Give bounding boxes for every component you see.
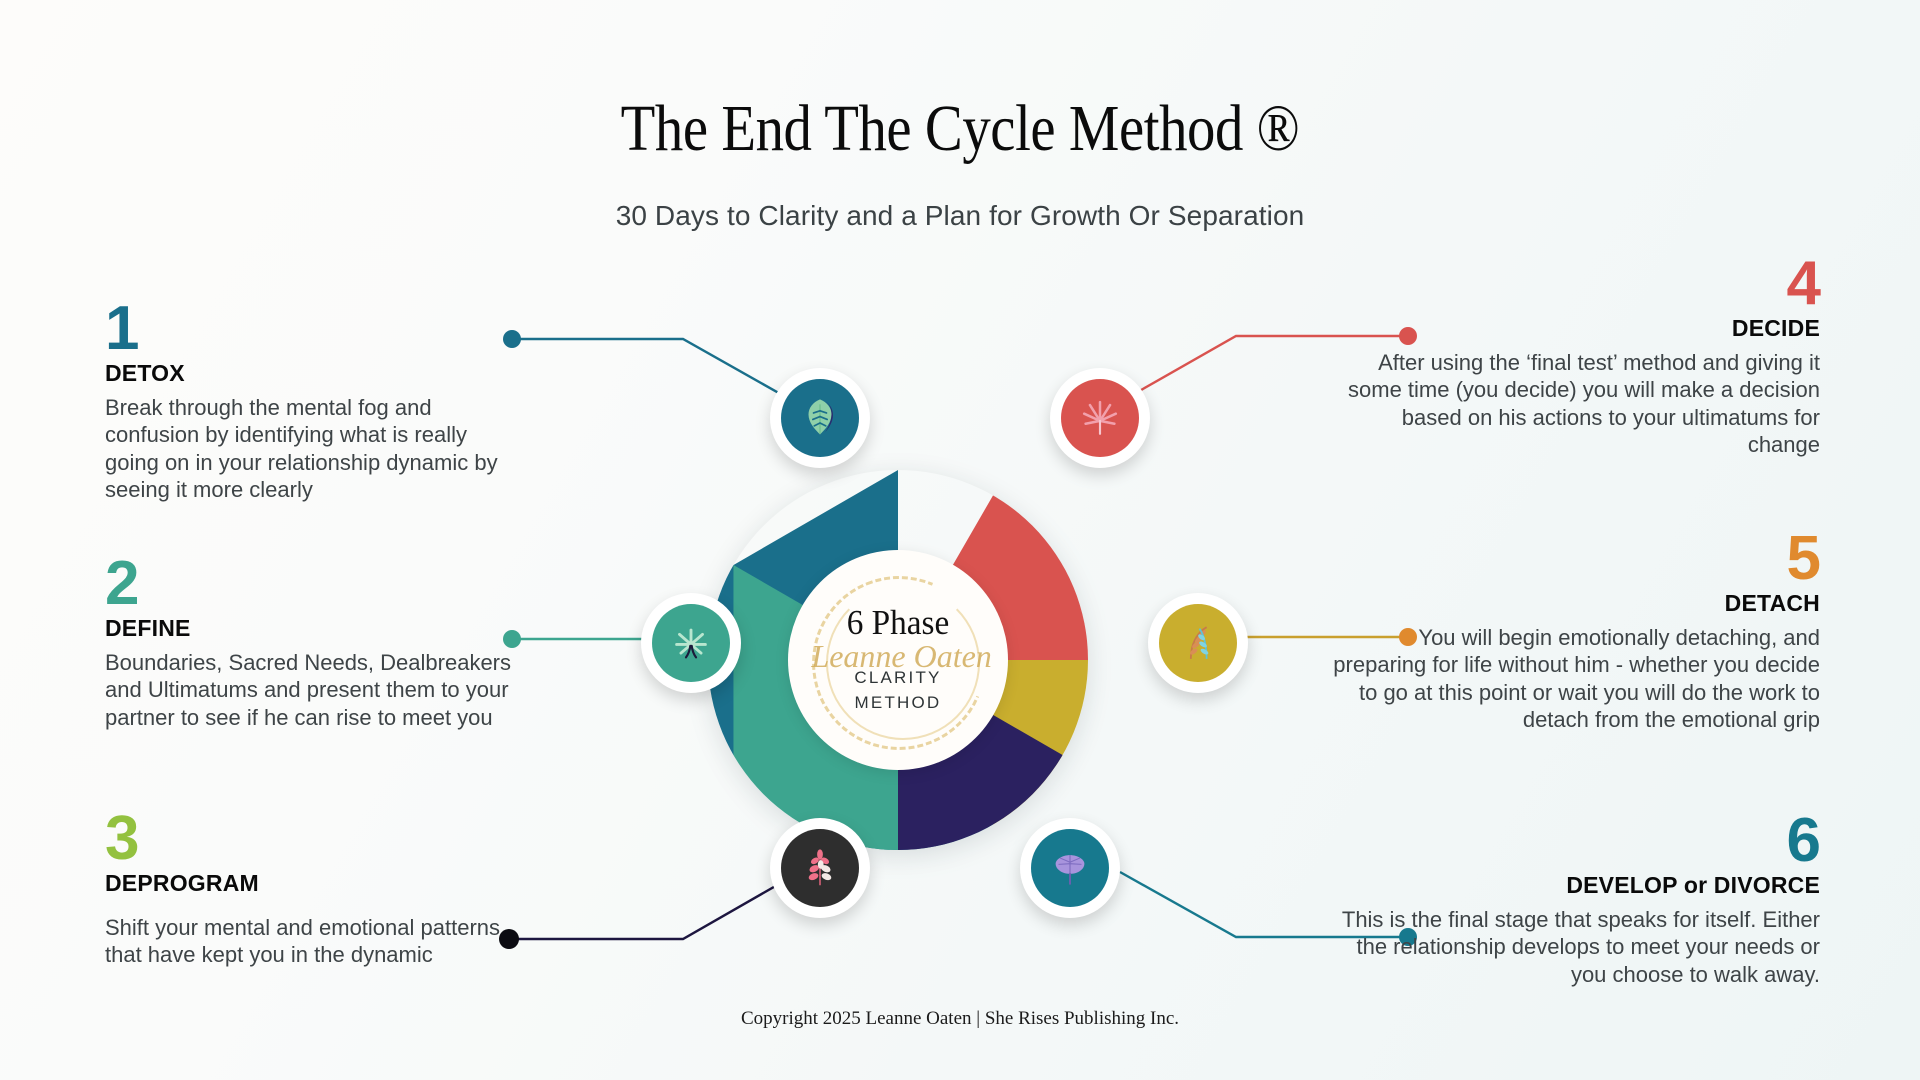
phase-icon-4[interactable] (1050, 368, 1150, 468)
step-number: 5 (1330, 530, 1820, 587)
step-2: 2 DEFINE Boundaries, Sacred Needs, Dealb… (105, 555, 515, 731)
phase-icon-5[interactable] (1148, 593, 1248, 693)
palm-leaf-icon (668, 620, 714, 666)
hub-title: 6 Phase (847, 605, 950, 640)
step-number: 6 (1330, 812, 1820, 869)
step-label: DEPROGRAM (105, 869, 515, 898)
step-description: Shift your mental and emotional patterns… (105, 914, 515, 969)
hub-subtitle: CLARITY METHOD (854, 666, 941, 715)
step-number: 4 (1330, 255, 1820, 312)
step-description: Break through the mental fog and confusi… (105, 394, 515, 504)
step-number: 2 (105, 555, 515, 612)
red-fan-leaf-icon (1077, 395, 1123, 441)
phase-icon-1[interactable] (770, 368, 870, 468)
step-4: 4 DECIDE After using the ‘final test’ me… (1330, 255, 1820, 459)
phase-icon-2[interactable] (641, 593, 741, 693)
phase-icon-6[interactable] (1020, 818, 1120, 918)
monstera-leaf-icon (797, 395, 843, 441)
step-description: Boundaries, Sacred Needs, Dealbreakers a… (105, 649, 515, 732)
pink-blossom-icon (797, 845, 843, 891)
hub-subtitle-line2: METHOD (854, 691, 941, 716)
page-subtitle: 30 Days to Clarity and a Plan for Growth… (0, 200, 1920, 232)
step-label: DETACH (1330, 589, 1820, 618)
step-number: 3 (105, 810, 515, 867)
page-title: The End The Cycle Method ® (134, 96, 1785, 162)
copyright-text: Copyright 2025 Leanne Oaten | She Rises … (0, 1008, 1920, 1030)
lotus-leaf-icon (1047, 845, 1093, 891)
step-description: You will begin emotionally detaching, an… (1330, 624, 1820, 734)
step-number: 1 (105, 300, 515, 357)
step-label: DETOX (105, 359, 515, 388)
step-label: DEVELOP or DIVORCE (1330, 871, 1820, 900)
step-description: After using the ‘final test’ method and … (1330, 349, 1820, 459)
hub-subtitle-line1: CLARITY (854, 666, 941, 691)
infographic-canvas: The End The Cycle Method ® 30 Days to Cl… (0, 0, 1920, 1080)
step-label: DEFINE (105, 614, 515, 643)
step-description: This is the final stage that speaks for … (1330, 906, 1820, 989)
step-1: 1 DETOX Break through the mental fog and… (105, 300, 515, 504)
step-5: 5 DETACH You will begin emotionally deta… (1330, 530, 1820, 734)
wheat-feather-icon (1175, 620, 1221, 666)
wheel-hub: Leanne Oaten 6 Phase CLARITY METHOD (788, 550, 1008, 770)
step-6: 6 DEVELOP or DIVORCE This is the final s… (1330, 812, 1820, 988)
step-label: DECIDE (1330, 314, 1820, 343)
step-3: 3 DEPROGRAM Shift your mental and emotio… (105, 810, 515, 969)
phase-icon-3[interactable] (770, 818, 870, 918)
phase-wheel: Leanne Oaten 6 Phase CLARITY METHOD (708, 470, 1088, 850)
